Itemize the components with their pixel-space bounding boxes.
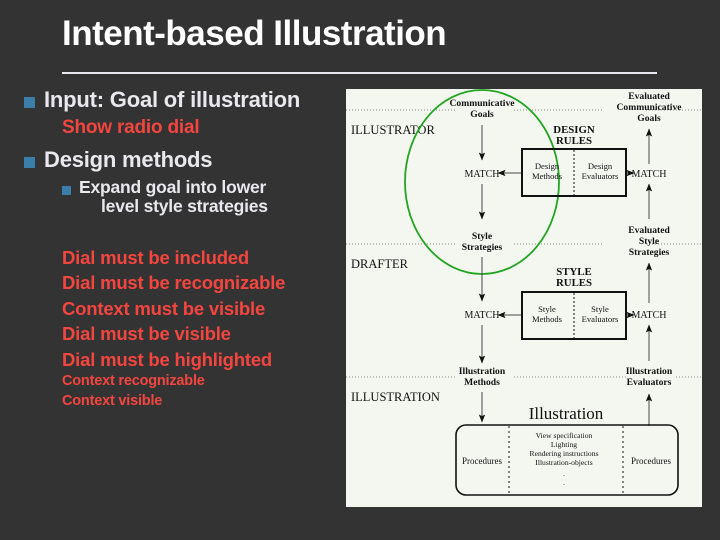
list-item: Dial must be highlighted [62, 347, 336, 373]
band-label-illustration: ILLUSTRATION [351, 390, 440, 404]
illustration-detail-line: Illustration-objects [535, 458, 592, 467]
square-bullet-icon [24, 157, 35, 168]
node-evaluated-comm-goals-line1: Evaluated [628, 91, 670, 102]
sub-bullet-line-1: Expand goal into lower [79, 177, 266, 197]
illustration-detail-line: Lighting [551, 440, 577, 449]
illustration-right-cell: Procedures [631, 456, 671, 466]
slide-root: Intent-based Illustration Input: Goal of… [0, 0, 720, 540]
design-methods-line1: Design [535, 161, 560, 171]
style-methods-line1: Style [538, 304, 556, 314]
node-style-strategies-line2: Strategies [462, 242, 503, 253]
band-label-illustrator: ILLUSTRATOR [351, 123, 435, 137]
design-evaluators-line1: Design [588, 161, 613, 171]
title-divider [62, 72, 657, 74]
sub-bullet-expand-goal: Expand goal into lower level style strat… [62, 178, 336, 217]
illustration-detail-ellipsis: . [563, 469, 565, 478]
node-evaluated-comm-goals-line3: Goals [637, 113, 661, 124]
node-match-right-1: MATCH [631, 169, 666, 180]
node-illustration-methods-line2: Methods [464, 377, 500, 388]
list-item: Dial must be recognizable [62, 270, 336, 296]
node-style-strategies-line1: Style [472, 231, 493, 242]
band-label-drafter: DRAFTER [351, 257, 409, 271]
pipeline-diagram: ILLUSTRATOR DRAFTER ILLUSTRATION Communi… [346, 89, 702, 507]
node-match-left-2: MATCH [464, 310, 499, 321]
list-item: Context visible [62, 392, 336, 412]
design-methods-line2: Methods [532, 171, 563, 181]
illustration-left-cell: Procedures [462, 456, 502, 466]
bullet-design-methods: Design methods [24, 148, 336, 171]
node-evaluated-style-line3: Strategies [629, 247, 670, 258]
square-bullet-icon [24, 97, 35, 108]
diagram-canvas: ILLUSTRATOR DRAFTER ILLUSTRATION Communi… [346, 89, 702, 507]
node-evaluated-style-line1: Evaluated [628, 225, 670, 236]
list-item: Context recognizable [62, 372, 336, 392]
bullet-input-goal: Input: Goal of illustration [24, 88, 336, 111]
square-bullet-icon [62, 186, 71, 195]
node-illustration-evaluators-line2: Evaluators [627, 377, 672, 388]
list-item: Dial must be included [62, 245, 336, 271]
style-evaluators-line1: Style [591, 304, 609, 314]
list-item: Context must be visible [62, 296, 336, 322]
constraints-list: Dial must be included Dial must be recog… [62, 245, 336, 412]
node-evaluated-comm-goals-line2: Communicative [616, 102, 682, 113]
design-evaluators-line2: Evaluators [582, 171, 619, 181]
style-methods-line2: Methods [532, 314, 563, 324]
node-communicative-goals-line1: Communicative [449, 98, 515, 109]
content-column: Input: Goal of illustration Show radio d… [18, 88, 336, 412]
sub-bullet-label: Expand goal into lower level style strat… [79, 178, 329, 217]
node-illustration-methods-line1: Illustration [459, 366, 506, 377]
design-rules-title-line2: RULES [556, 135, 592, 147]
page-title: Intent-based Illustration [62, 16, 682, 53]
node-match-right-2: MATCH [631, 310, 666, 321]
node-match-left-1: MATCH [464, 169, 499, 180]
list-item: Dial must be visible [62, 321, 336, 347]
node-communicative-goals-line2: Goals [470, 109, 494, 120]
illustration-box-title: Illustration [529, 404, 604, 423]
illustration-detail-ellipsis: . [563, 478, 565, 487]
sub-bullet-line-2: level style strategies [79, 197, 329, 217]
illustration-detail-line: Rendering instructions [530, 449, 599, 458]
illustration-detail-line: View specification [536, 431, 593, 440]
style-evaluators-line2: Evaluators [582, 314, 619, 324]
style-rules-title-line2: RULES [556, 277, 592, 289]
node-illustration-evaluators-line1: Illustration [626, 366, 673, 377]
bullet-label: Design methods [44, 148, 336, 171]
bullet-label: Input: Goal of illustration [44, 88, 336, 111]
node-evaluated-style-line2: Style [639, 236, 660, 247]
show-radio-dial-text: Show radio dial [62, 117, 336, 139]
